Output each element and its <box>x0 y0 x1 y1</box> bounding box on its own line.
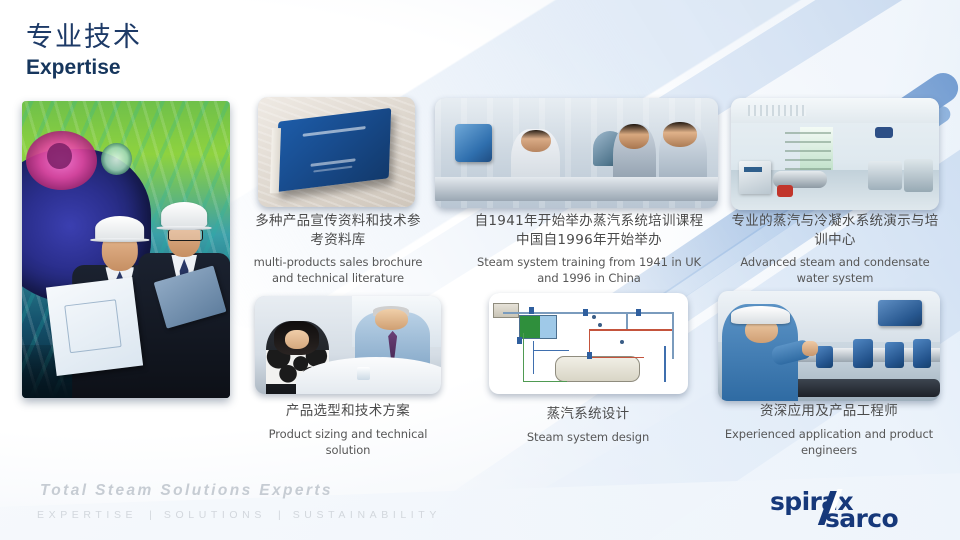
vent-line <box>664 346 666 382</box>
blue-valve-2 <box>885 342 905 368</box>
caption-chinese: 产品选型和技术方案 <box>249 402 447 421</box>
photo-content <box>22 101 230 398</box>
head <box>521 130 551 152</box>
blue-valve-1 <box>853 339 873 368</box>
training-center-photo <box>731 98 939 210</box>
water-main <box>523 381 567 383</box>
footer-tagline: Total Steam Solutions Experts <box>40 482 333 500</box>
book-footer-line <box>313 165 351 172</box>
caption-chinese: 专业的蒸汽与冷凝水系统演示与培训中心 <box>728 212 942 249</box>
rig-2 <box>904 159 933 193</box>
blue-equipment <box>875 127 894 138</box>
caption-english: multi-products sales brochure and techni… <box>250 254 426 286</box>
caption-sizing: 产品选型和技术方案 Product sizing and technical s… <box>249 402 447 458</box>
caption-chinese: 多种产品宣传资料和技术参考资料库 <box>250 212 426 249</box>
photo-content <box>258 97 415 207</box>
red-valve <box>777 185 794 196</box>
caption-training: 自1941年开始举办蒸汽系统培训课程中国自1996年开始举办 Steam sys… <box>470 212 708 286</box>
book-title-line <box>302 126 365 137</box>
footer-pillar-sustainability: SUSTAINABILITY <box>293 509 441 521</box>
insulated-pipe <box>785 379 940 397</box>
hard-hat-icon <box>161 202 207 227</box>
steam-system-schematic <box>489 293 688 394</box>
water-glass <box>357 367 370 381</box>
photo-content <box>435 98 718 208</box>
caption-chinese: 蒸汽系统设计 <box>488 405 688 424</box>
hardcover-book <box>276 107 391 192</box>
blue-valve-4 <box>816 346 834 368</box>
hard-hat-icon <box>731 306 790 323</box>
blue-actuator <box>455 124 492 161</box>
heat-exchanger <box>519 315 557 339</box>
blueprint-document <box>46 277 144 376</box>
steam-training-photo <box>435 98 718 208</box>
footer-pillar-solutions: SOLUTIONS <box>164 509 266 521</box>
boiler <box>555 356 641 382</box>
glasses-icon <box>168 229 203 241</box>
foreground-pipework <box>435 177 718 201</box>
hand <box>802 341 817 356</box>
condensate-return <box>589 357 645 359</box>
hard-hat-brim <box>157 226 212 230</box>
head <box>619 124 649 149</box>
magenta-core <box>47 143 72 170</box>
feed-tank <box>493 303 519 318</box>
caption-center: 专业的蒸汽与冷凝水系统演示与培训中心 Advanced steam and co… <box>728 212 942 286</box>
photo-content <box>489 293 688 394</box>
footer-pillar-expertise: EXPERTISE <box>37 509 137 521</box>
footer-pillars: EXPERTISE | SOLUTIONS | SUSTAINABILITY <box>37 509 441 521</box>
steam-branch-main <box>533 350 569 352</box>
spirax-sarco-logo: spirax sarco <box>768 488 938 530</box>
blue-actuator <box>878 300 922 326</box>
pipe-far-right <box>672 312 674 358</box>
caption-chinese: 自1941年开始举办蒸汽系统培训课程中国自1996年开始举办 <box>470 212 708 249</box>
head <box>663 122 697 147</box>
field-engineer-photo <box>718 291 940 401</box>
footer-separator-1: | <box>149 509 152 521</box>
valve-1 <box>529 307 534 314</box>
caption-english: Product sizing and technical solution <box>249 426 447 458</box>
pipe-top-right <box>626 312 674 314</box>
pipe-riser-right <box>626 312 628 330</box>
valve-5 <box>587 352 592 359</box>
photo-content <box>731 98 939 210</box>
caption-chinese: 资深应用及产品工程师 <box>722 402 936 421</box>
footer-separator-2: | <box>278 509 281 521</box>
valve-2 <box>583 309 588 316</box>
logo-word-sarco: sarco <box>825 504 898 533</box>
consultation-meeting-photo <box>255 296 441 394</box>
valve-3 <box>636 309 641 316</box>
condensate-main <box>589 329 673 331</box>
water-riser <box>523 333 525 381</box>
caption-design: 蒸汽系统设计 Steam system design <box>488 405 688 445</box>
caption-english: Advanced steam and condensate water syst… <box>728 254 942 286</box>
slide-canvas: 专业技术 Expertise <box>0 0 960 540</box>
head <box>375 309 408 330</box>
ceiling <box>731 98 939 123</box>
page-title: 专业技术 Expertise <box>26 22 142 80</box>
blue-book-photo <box>258 97 415 207</box>
photo-content <box>718 291 940 401</box>
caption-english: Experienced application and product engi… <box>722 426 936 458</box>
head <box>285 330 309 349</box>
photo-content <box>255 296 441 394</box>
control-unit <box>739 161 770 195</box>
book-pages <box>270 127 281 192</box>
page-title-english: Expertise <box>26 55 142 80</box>
caption-english: Steam system training from 1941 in UK an… <box>470 254 708 286</box>
caption-brochure: 多种产品宣传资料和技术参考资料库 multi-products sales br… <box>250 212 426 286</box>
caption-english: Steam system design <box>488 429 688 445</box>
pipe-top <box>503 312 626 314</box>
engineers-with-blueprint-photo <box>22 101 230 398</box>
caption-engineers: 资深应用及产品工程师 Experienced application and p… <box>722 402 936 458</box>
engineer-figure <box>722 304 797 401</box>
blue-valve-3 <box>913 339 931 368</box>
page-title-chinese: 专业技术 <box>26 22 142 53</box>
steam-branch <box>533 341 535 373</box>
rig-1 <box>868 161 901 190</box>
valve-4 <box>517 337 522 344</box>
